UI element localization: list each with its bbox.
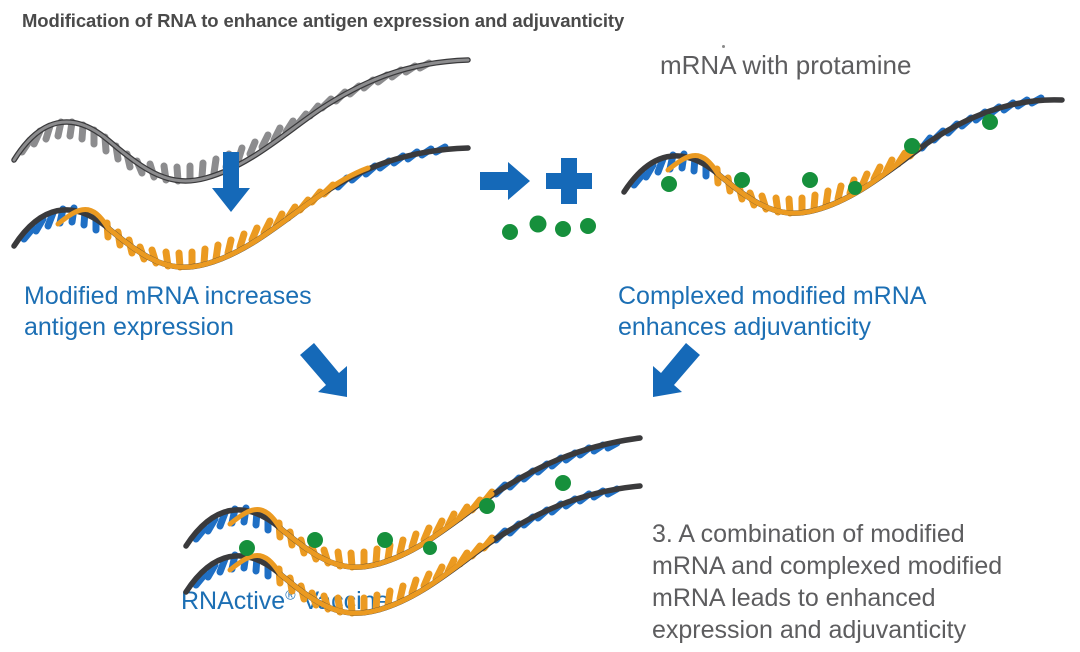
arrow-down-left-icon bbox=[653, 343, 700, 397]
green-dot-icon bbox=[982, 114, 998, 130]
label-mrna-with-protamine: mRNA with protamine bbox=[660, 50, 911, 81]
green-dot-icon bbox=[423, 541, 437, 555]
backbone-dark bbox=[624, 100, 1062, 213]
ticks-blue-right bbox=[922, 98, 1041, 148]
diagram-canvas: Modification of RNA to enhance antigen e… bbox=[0, 0, 1080, 652]
ticks-orange bbox=[107, 185, 333, 267]
protamine-dots-on-strand bbox=[661, 114, 998, 195]
strand-complexed-modified-mrna bbox=[624, 98, 1062, 213]
green-dot-icon bbox=[377, 532, 393, 548]
green-dot-icon bbox=[904, 138, 920, 154]
ticks-blue-right bbox=[496, 489, 617, 540]
backbone-orange bbox=[668, 148, 918, 213]
free-protamine-dots bbox=[502, 216, 596, 241]
green-dot-icon bbox=[661, 176, 677, 192]
green-dot-icon bbox=[555, 475, 571, 491]
ticks-blue-right bbox=[338, 147, 445, 187]
registered-mark: ® bbox=[285, 587, 295, 603]
green-dot-icon bbox=[502, 224, 518, 240]
green-dot-icon bbox=[580, 218, 596, 234]
ticks-orange bbox=[717, 146, 918, 213]
green-dot-icon bbox=[848, 181, 862, 195]
vaccine-suffix-text: Vaccine bbox=[296, 587, 390, 615]
green-dot-icon bbox=[239, 540, 255, 556]
plus-icon bbox=[546, 158, 592, 204]
caption-modified-mrna: Modified mRNA increases antigen expressi… bbox=[24, 281, 312, 342]
ticks-blue-left bbox=[196, 554, 268, 585]
caption-rnactive-vaccine: RNActive® Vaccine bbox=[181, 586, 390, 617]
green-dot-icon bbox=[555, 221, 571, 237]
page-title: Modification of RNA to enhance antigen e… bbox=[22, 10, 624, 32]
backbone-light-gray bbox=[14, 60, 468, 181]
strand-unmodified-mrna bbox=[14, 60, 468, 181]
ticks-blue-right bbox=[496, 443, 617, 494]
arrow-down-right-icon bbox=[300, 343, 347, 397]
backbone-dark-gray bbox=[14, 60, 468, 181]
ticks-blue-left bbox=[24, 208, 96, 239]
ticks-blue-left bbox=[634, 154, 706, 185]
green-dot-icon bbox=[734, 172, 750, 188]
vaccine-name-text: RNActive bbox=[181, 587, 285, 615]
backbone-orange bbox=[230, 494, 492, 567]
green-dot-icon bbox=[802, 172, 818, 188]
green-dot-icon bbox=[307, 532, 323, 548]
stray-dot-artifact bbox=[722, 45, 725, 48]
backbone-orange bbox=[58, 168, 368, 267]
caption-step-3: 3. A combination of modified mRNA and co… bbox=[652, 518, 1002, 646]
ticks-orange bbox=[279, 492, 492, 567]
backbone-dark bbox=[14, 148, 468, 267]
strand-vaccine-modified-mrna bbox=[186, 438, 640, 567]
protamine-dots-on-strand bbox=[239, 475, 571, 556]
green-dot-icon bbox=[530, 216, 547, 233]
caption-complexed-mrna: Complexed modified mRNA enhances adjuvan… bbox=[618, 281, 926, 342]
ticks-blue-left bbox=[196, 508, 268, 539]
backbone-dark bbox=[186, 438, 640, 567]
ticks-gray bbox=[22, 63, 429, 181]
green-dot-icon bbox=[479, 498, 495, 514]
arrow-right-icon bbox=[480, 162, 530, 200]
strand-modified-mrna bbox=[14, 147, 468, 267]
arrow-down-icon bbox=[212, 152, 250, 212]
